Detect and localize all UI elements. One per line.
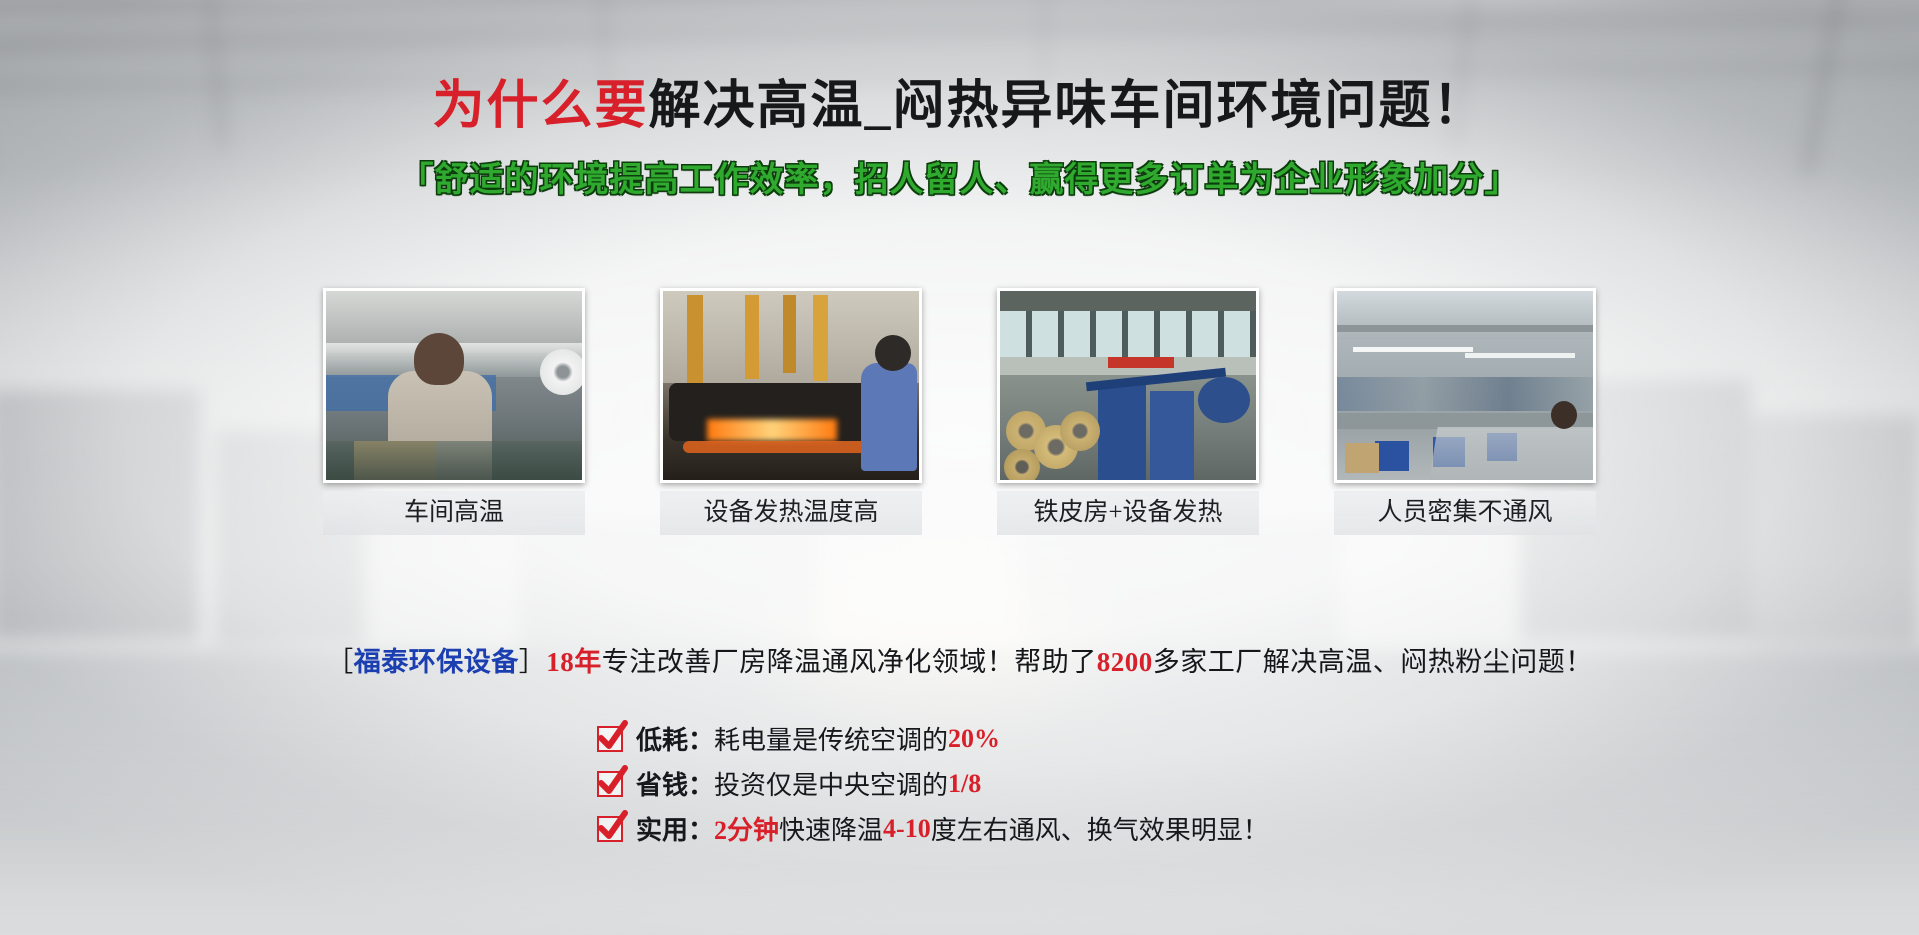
- card-caption: 车间高温: [323, 491, 585, 535]
- pain-point-card-list: 车间高温 设备发热温度高: [0, 288, 1919, 535]
- photo-worker-blue-body: [861, 363, 917, 471]
- check-box-icon: [597, 726, 623, 752]
- benefit-label: 低耗：: [636, 720, 714, 757]
- pain-point-card[interactable]: 人员密集不通风: [1334, 288, 1596, 535]
- workshop-photo-4: [1334, 288, 1596, 483]
- benefit-value: 1/8: [948, 769, 981, 799]
- photo-window-band: [1000, 311, 1256, 357]
- photo-blue-machine: [1098, 383, 1146, 483]
- banner-content: 为什么要解决高温_闷热异味车间环境问题！ 「舒适的环境提高工作效率，招人留人、赢…: [0, 0, 1919, 935]
- photo-yellow-hose: [813, 295, 828, 381]
- photo-blue-bin: [1375, 441, 1409, 471]
- workshop-photo-2: [660, 288, 922, 483]
- lead-paragraph: ［福泰环保设备］18年专注改善厂房降温通风净化领域！帮助了8200多家工厂解决高…: [0, 640, 1919, 679]
- photo-light-tube: [1353, 347, 1473, 352]
- brand-name: 福泰环保设备: [354, 647, 519, 677]
- photo-gold-coil: [1060, 411, 1100, 451]
- check-box-icon: [597, 816, 623, 842]
- title-highlight: 为什么要: [432, 78, 648, 135]
- photo-gold-coil: [1004, 449, 1040, 483]
- bracket-open: ［: [326, 647, 354, 677]
- benefit-label: 省钱：: [636, 765, 714, 802]
- card-caption: 铁皮房+设备发热: [997, 491, 1259, 535]
- photo-worker-head: [1551, 401, 1577, 429]
- factory-count: 8200: [1097, 647, 1153, 677]
- years-value: 18年: [546, 647, 602, 677]
- photo-worker-head: [875, 335, 911, 371]
- photo-yellow-hose: [783, 295, 796, 373]
- photo-aisle: [1428, 427, 1596, 483]
- benefit-label: 实用：: [636, 810, 714, 847]
- workshop-photo-3: [997, 288, 1259, 483]
- benefit-text: 耗电量是传统空调的: [714, 720, 948, 757]
- photo-white-reel: [540, 349, 585, 395]
- photo-orange-cable: [683, 441, 873, 453]
- photo-worker-head: [414, 333, 464, 385]
- photo-blue-drum: [1198, 377, 1250, 423]
- lead-tail-text: 多家工厂解决高温、闷热粉尘问题！: [1153, 647, 1593, 677]
- benefit-item-low-consumption: 低耗：耗电量是传统空调的20%: [597, 716, 1269, 761]
- pain-point-card[interactable]: 铁皮房+设备发热: [997, 288, 1259, 535]
- page-subtitle: 「舒适的环境提高工作效率，招人留人、赢得更多订单为企业形象加分」: [0, 152, 1919, 201]
- photo-carton: [1345, 443, 1379, 473]
- benefit-text: 快速降温: [779, 810, 883, 847]
- lead-middle-text: 专注改善厂房降温通风净化领域！帮助了: [602, 647, 1097, 677]
- title-rest: 解决高温_闷热异味车间环境问题！: [649, 78, 1487, 135]
- photo-blue-machine: [1150, 391, 1194, 483]
- photo-hot-glow: [707, 419, 837, 441]
- page-title: 为什么要解决高温_闷热异味车间环境问题！: [0, 78, 1919, 136]
- benefit-value-time: 2分钟: [714, 810, 779, 847]
- photo-roof: [1000, 291, 1256, 311]
- bracket-close: ］: [519, 647, 547, 677]
- benefit-item-cost-saving: 省钱：投资仅是中央空调的1/8: [597, 761, 1269, 806]
- card-caption: 设备发热温度高: [660, 491, 922, 535]
- photo-yellow-hose: [687, 295, 703, 385]
- photo-red-sign: [1108, 357, 1174, 368]
- photo-yellow-hose: [745, 295, 759, 379]
- photo-ceiling-duct: [1337, 325, 1593, 332]
- benefit-item-practical: 实用：2分钟快速降温4-10度左右通风、换气效果明显！: [597, 806, 1269, 851]
- workshop-photo-1: [323, 288, 585, 483]
- benefit-list: 低耗：耗电量是传统空调的20% 省钱：投资仅是中央空调的1/8 实用：2分钟快速…: [597, 716, 1269, 851]
- photo-floor: [326, 441, 582, 483]
- photo-light-tube: [1465, 353, 1575, 358]
- benefit-suffix: 度左右通风、换气效果明显！: [931, 810, 1269, 847]
- benefit-value: 4-10: [883, 814, 931, 844]
- check-box-icon: [597, 771, 623, 797]
- benefit-value: 20%: [948, 724, 1000, 754]
- card-caption: 人员密集不通风: [1334, 491, 1596, 535]
- pain-point-card[interactable]: 设备发热温度高: [660, 288, 922, 535]
- benefit-text: 投资仅是中央空调的: [714, 765, 948, 802]
- pain-point-card[interactable]: 车间高温: [323, 288, 585, 535]
